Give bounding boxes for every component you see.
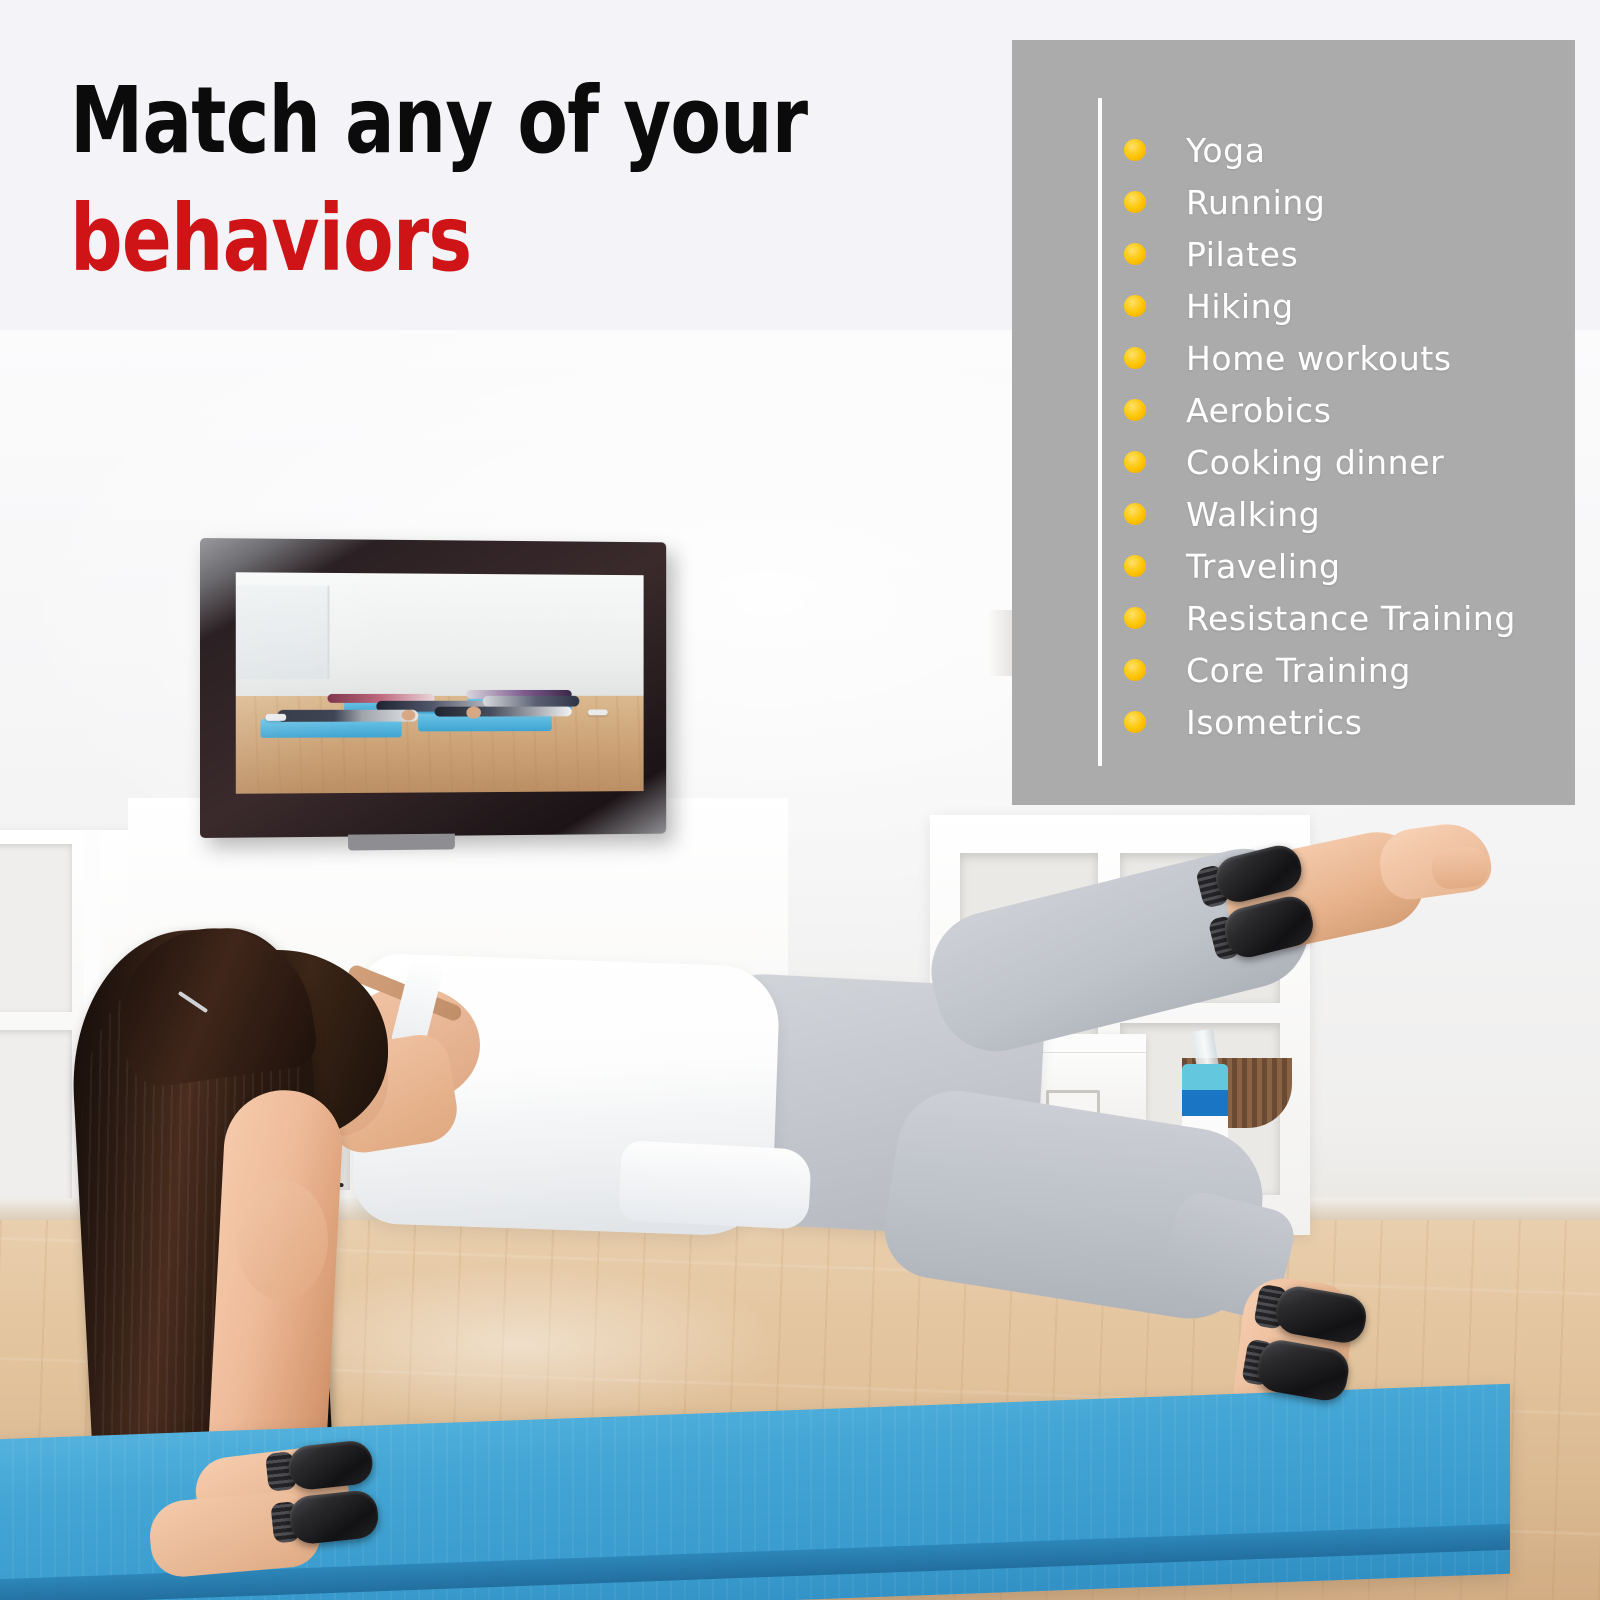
activity-list-item: Yoga: [1124, 124, 1575, 176]
panel-vertical-rule: [1098, 98, 1102, 766]
bullet-dot-icon: [1124, 399, 1146, 421]
activity-list-item-label: Cooking dinner: [1186, 443, 1444, 482]
bullet-dot-icon: [1124, 191, 1146, 213]
activity-list-item: Pilates: [1124, 228, 1575, 280]
weight-bar: [1254, 1337, 1352, 1404]
weight-bar: [287, 1439, 375, 1492]
tank-top-hem: [618, 1140, 812, 1230]
activity-list-item-label: Yoga: [1186, 131, 1266, 170]
ponytail-crown: [110, 916, 319, 1091]
activity-list-item-label: Home workouts: [1186, 339, 1452, 378]
wrist-weight-product: [265, 1439, 386, 1558]
bullet-dot-icon: [1124, 347, 1146, 369]
activity-list: YogaRunningPilatesHikingHome workoutsAer…: [1124, 124, 1575, 748]
headline-line-2: behaviors: [70, 194, 806, 284]
bullet-dot-icon: [1124, 243, 1146, 265]
activity-list-item: Hiking: [1124, 280, 1575, 332]
bullet-dot-icon: [1124, 503, 1146, 525]
activity-list-item-label: Isometrics: [1186, 703, 1363, 742]
bullet-dot-icon: [1124, 295, 1146, 317]
headline: Match any of your behaviors: [70, 76, 990, 284]
activity-list-item-label: Traveling: [1186, 547, 1341, 586]
activity-list-item: Traveling: [1124, 540, 1575, 592]
bullet-dot-icon: [1124, 659, 1146, 681]
activity-list-item: Cooking dinner: [1124, 436, 1575, 488]
bullet-dot-icon: [1124, 555, 1146, 577]
activity-list-item: Resistance Training: [1124, 592, 1575, 644]
activity-list-item: Aerobics: [1124, 384, 1575, 436]
activity-list-item-label: Resistance Training: [1186, 599, 1516, 638]
activity-list-panel: YogaRunningPilatesHikingHome workoutsAer…: [1012, 40, 1575, 805]
activity-list-item-label: Pilates: [1186, 235, 1298, 274]
activity-list-item-label: Hiking: [1186, 287, 1294, 326]
activity-list-item-label: Walking: [1186, 495, 1320, 534]
elbow: [236, 1180, 328, 1300]
activity-list-item: Walking: [1124, 488, 1575, 540]
weight-bar: [1220, 892, 1317, 962]
activity-list-item-label: Running: [1186, 183, 1325, 222]
bullet-dot-icon: [1124, 139, 1146, 161]
bullet-dot-icon: [1124, 451, 1146, 473]
bullet-dot-icon: [1124, 607, 1146, 629]
activity-list-item: Running: [1124, 176, 1575, 228]
activity-list-item-label: Core Training: [1186, 651, 1411, 690]
product-marketing-image: Match any of your behaviors YogaRunningP…: [0, 0, 1600, 1600]
headline-line-1: Match any of your: [70, 76, 806, 166]
bullet-dot-icon: [1124, 711, 1146, 733]
weight-bar: [288, 1489, 381, 1546]
activity-list-item: Isometrics: [1124, 696, 1575, 748]
activity-list-item: Core Training: [1124, 644, 1575, 696]
ankle-weight-product-supporting-leg: [1238, 1279, 1367, 1416]
activity-list-item-label: Aerobics: [1186, 391, 1332, 430]
activity-list-item: Home workouts: [1124, 332, 1575, 384]
